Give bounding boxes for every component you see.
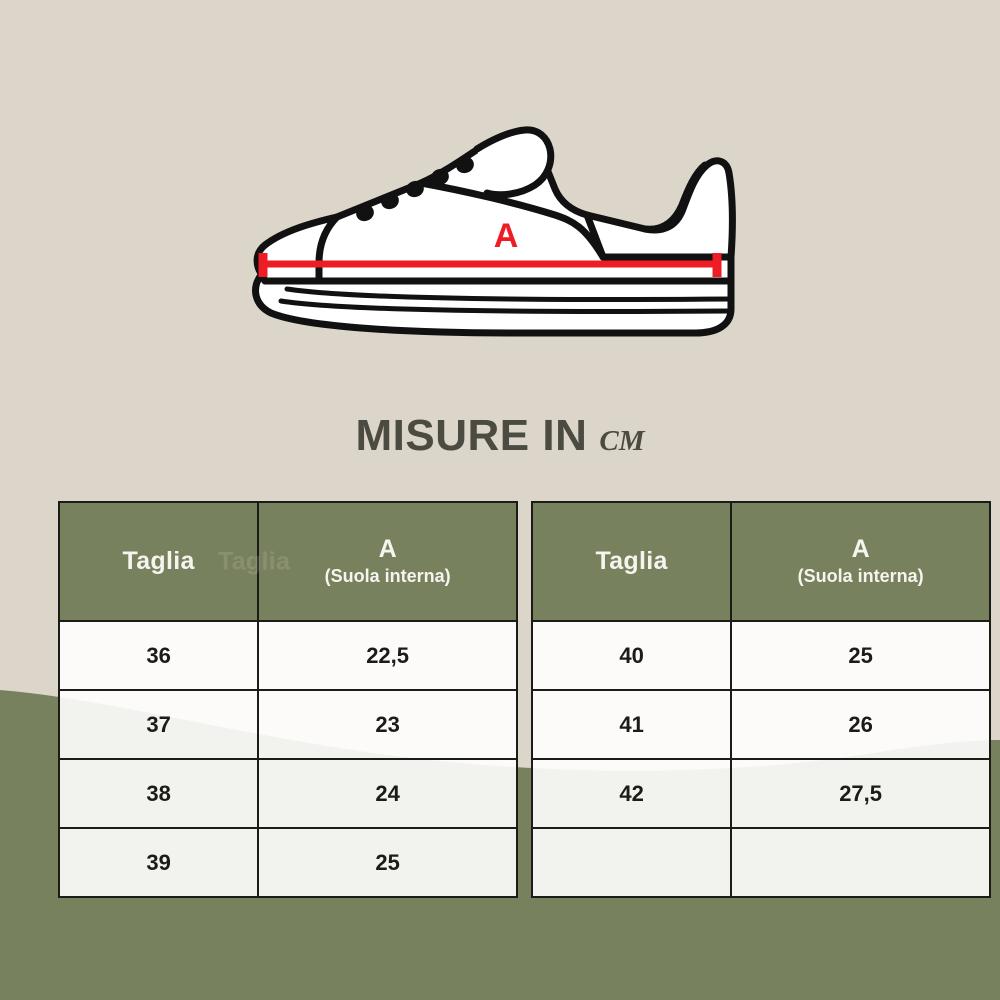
table-row: 40 25 xyxy=(532,621,990,690)
table-row: 39 25 xyxy=(59,828,517,897)
header-length-main-right: A xyxy=(732,536,989,562)
cell-length xyxy=(731,828,990,897)
cell-length: 24 xyxy=(258,759,517,828)
cell-length: 25 xyxy=(258,828,517,897)
header-size-right: Taglia xyxy=(532,502,731,621)
cell-length: 23 xyxy=(258,690,517,759)
header-length-right: A (Suola interna) xyxy=(731,502,990,621)
cell-length: 25 xyxy=(731,621,990,690)
cell-size: 39 xyxy=(59,828,258,897)
size-table-right: Taglia A (Suola interna) 40 25 41 26 42 … xyxy=(531,501,991,898)
header-size-left: Taglia Taglia xyxy=(59,502,258,621)
table-row: 41 26 xyxy=(532,690,990,759)
cell-size: 42 xyxy=(532,759,731,828)
cell-size xyxy=(532,828,731,897)
cell-length: 22,5 xyxy=(258,621,517,690)
measure-label-a: A xyxy=(494,217,519,255)
sneaker-illustration: A xyxy=(225,105,765,345)
page-title-unit: cm xyxy=(599,414,644,460)
cell-size: 40 xyxy=(532,621,731,690)
page-title: MISURE INcm xyxy=(0,411,1000,461)
table-row: 42 27,5 xyxy=(532,759,990,828)
header-length-main-left: A xyxy=(259,536,516,562)
header-size-label-left: Taglia xyxy=(123,547,195,575)
table-row: 37 23 xyxy=(59,690,517,759)
cell-size: 36 xyxy=(59,621,258,690)
size-table-left: Taglia Taglia A (Suola interna) 36 22,5 … xyxy=(58,501,518,898)
header-length-left: A (Suola interna) xyxy=(258,502,517,621)
table-row-empty xyxy=(532,828,990,897)
cell-size: 37 xyxy=(59,690,258,759)
table-header-row: Taglia A (Suola interna) xyxy=(532,502,990,621)
table-row: 36 22,5 xyxy=(59,621,517,690)
page-title-main: MISURE IN xyxy=(356,411,588,460)
header-length-sub-left: (Suola interna) xyxy=(259,567,516,587)
header-size-label-right: Taglia xyxy=(596,547,668,575)
table-row: 38 24 xyxy=(59,759,517,828)
cell-length: 27,5 xyxy=(731,759,990,828)
cell-size: 41 xyxy=(532,690,731,759)
table-header-row: Taglia Taglia A (Suola interna) xyxy=(59,502,517,621)
header-length-sub-right: (Suola interna) xyxy=(732,567,989,587)
cell-size: 38 xyxy=(59,759,258,828)
cell-length: 26 xyxy=(731,690,990,759)
